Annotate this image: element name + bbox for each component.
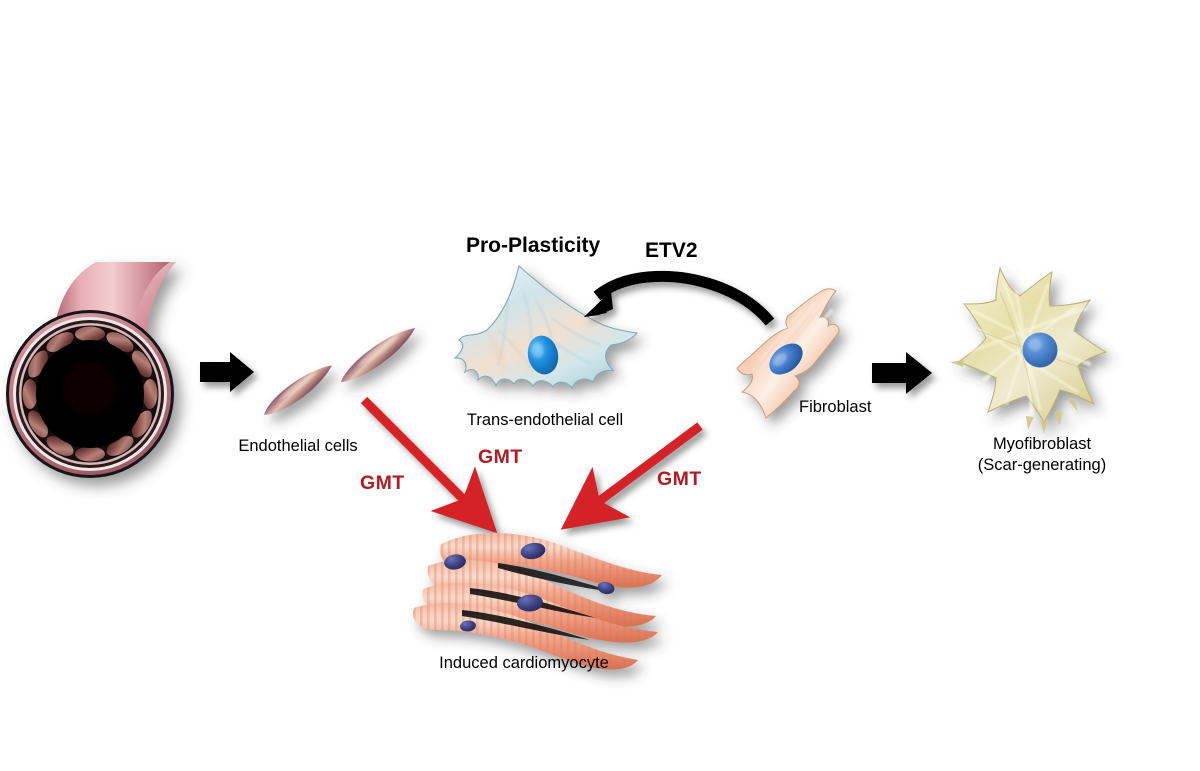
gmt-label-left: GMT (360, 472, 405, 495)
fibroblast-label: Fibroblast (799, 398, 871, 417)
gmt-label-middle: GMT (478, 446, 523, 469)
black-arrow-fibroblast-to-myofibroblast (872, 352, 932, 394)
induced-cardiomyocyte-label: Induced cardiomyocyte (439, 654, 609, 673)
myofibroblast-label-line2: (Scar-generating) (978, 456, 1106, 475)
figure-canvas: Pro-Plasticity ETV2 Endothelial cells Tr… (0, 0, 1200, 771)
induced-cardiomyocyte-illustration (413, 533, 662, 670)
myofibroblast-illustration (950, 268, 1106, 434)
etv2-curved-arrow (584, 276, 770, 322)
etv2-label: ETV2 (645, 239, 698, 264)
myofibroblast-label-line1: Myofibroblast (993, 435, 1091, 454)
endothelial-cells-illustration (259, 321, 421, 422)
gmt-label-right: GMT (657, 468, 702, 491)
blood-vessel-illustration (6, 262, 176, 478)
myofibroblast-nucleus (1023, 333, 1058, 368)
trans-endothelial-cell-label: Trans-endothelial cell (467, 411, 623, 430)
black-arrow-vessel-to-endothelial (200, 352, 254, 392)
pro-plasticity-label: Pro-Plasticity (466, 234, 600, 259)
endothelial-cells-label: Endothelial cells (238, 437, 357, 456)
gmt-arrow-right (594, 426, 700, 505)
